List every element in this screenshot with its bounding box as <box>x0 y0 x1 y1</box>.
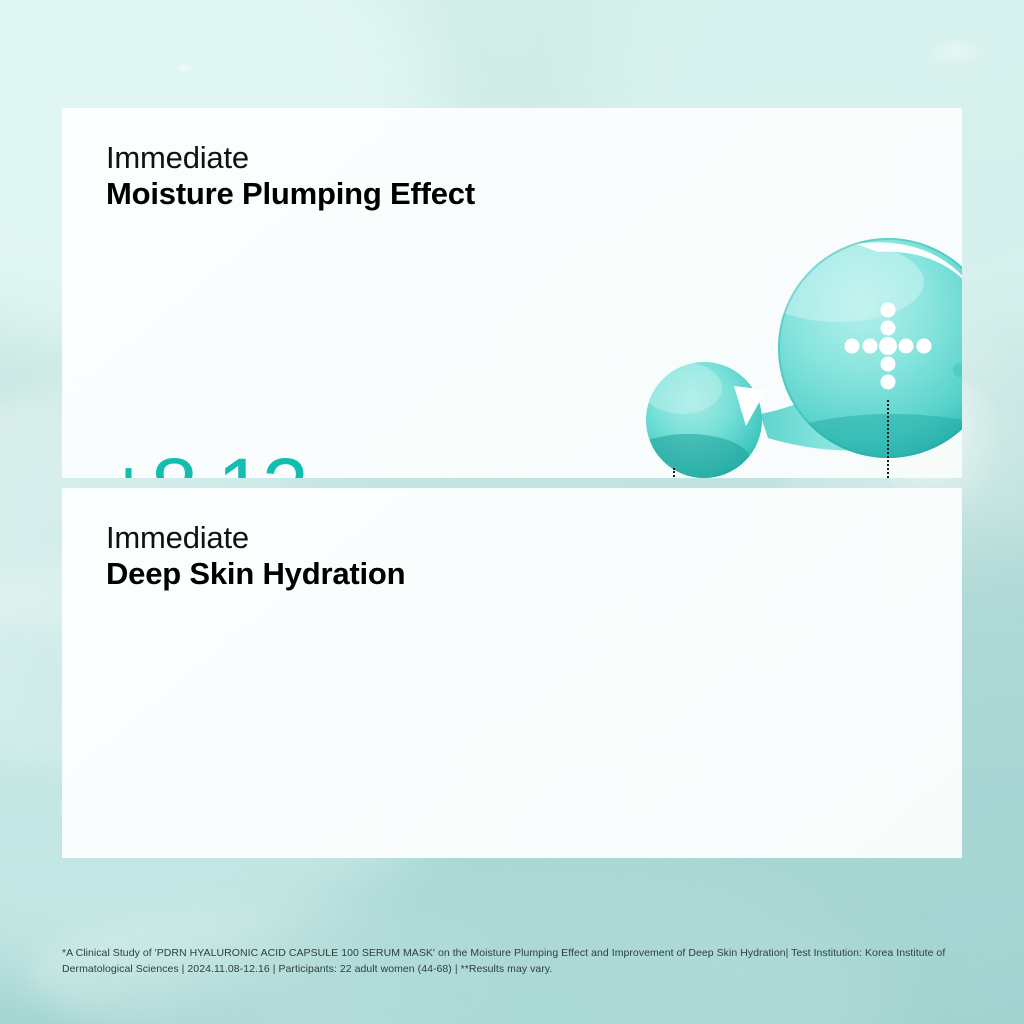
bubble <box>176 64 196 75</box>
leader-line-before <box>673 468 675 478</box>
headline-line-1: Immediate <box>106 140 475 176</box>
headline-line-1: Immediate <box>106 520 405 556</box>
result-card-moisture-plumping: Immediate Moisture Plumping Effect +8.12… <box>62 108 962 478</box>
stat-value: +8.12% <box>104 446 341 478</box>
headline-line-2: Moisture Plumping Effect <box>106 176 475 212</box>
bubble <box>930 40 990 70</box>
leader-line-after <box>887 400 889 478</box>
headline-line-2: Deep Skin Hydration <box>106 556 405 592</box>
stat-number: +8.12 <box>104 441 307 478</box>
clinical-study-disclaimer: *A Clinical Study of 'PDRN HYALURONIC AC… <box>62 946 962 978</box>
droplet-svg <box>642 238 962 478</box>
result-card-deep-hydration: Immediate Deep Skin Hydration +27.86% <box>62 488 962 858</box>
card-headline: Immediate Deep Skin Hydration <box>106 520 405 592</box>
droplet-illustration <box>642 238 962 478</box>
card-headline: Immediate Moisture Plumping Effect <box>106 140 475 212</box>
